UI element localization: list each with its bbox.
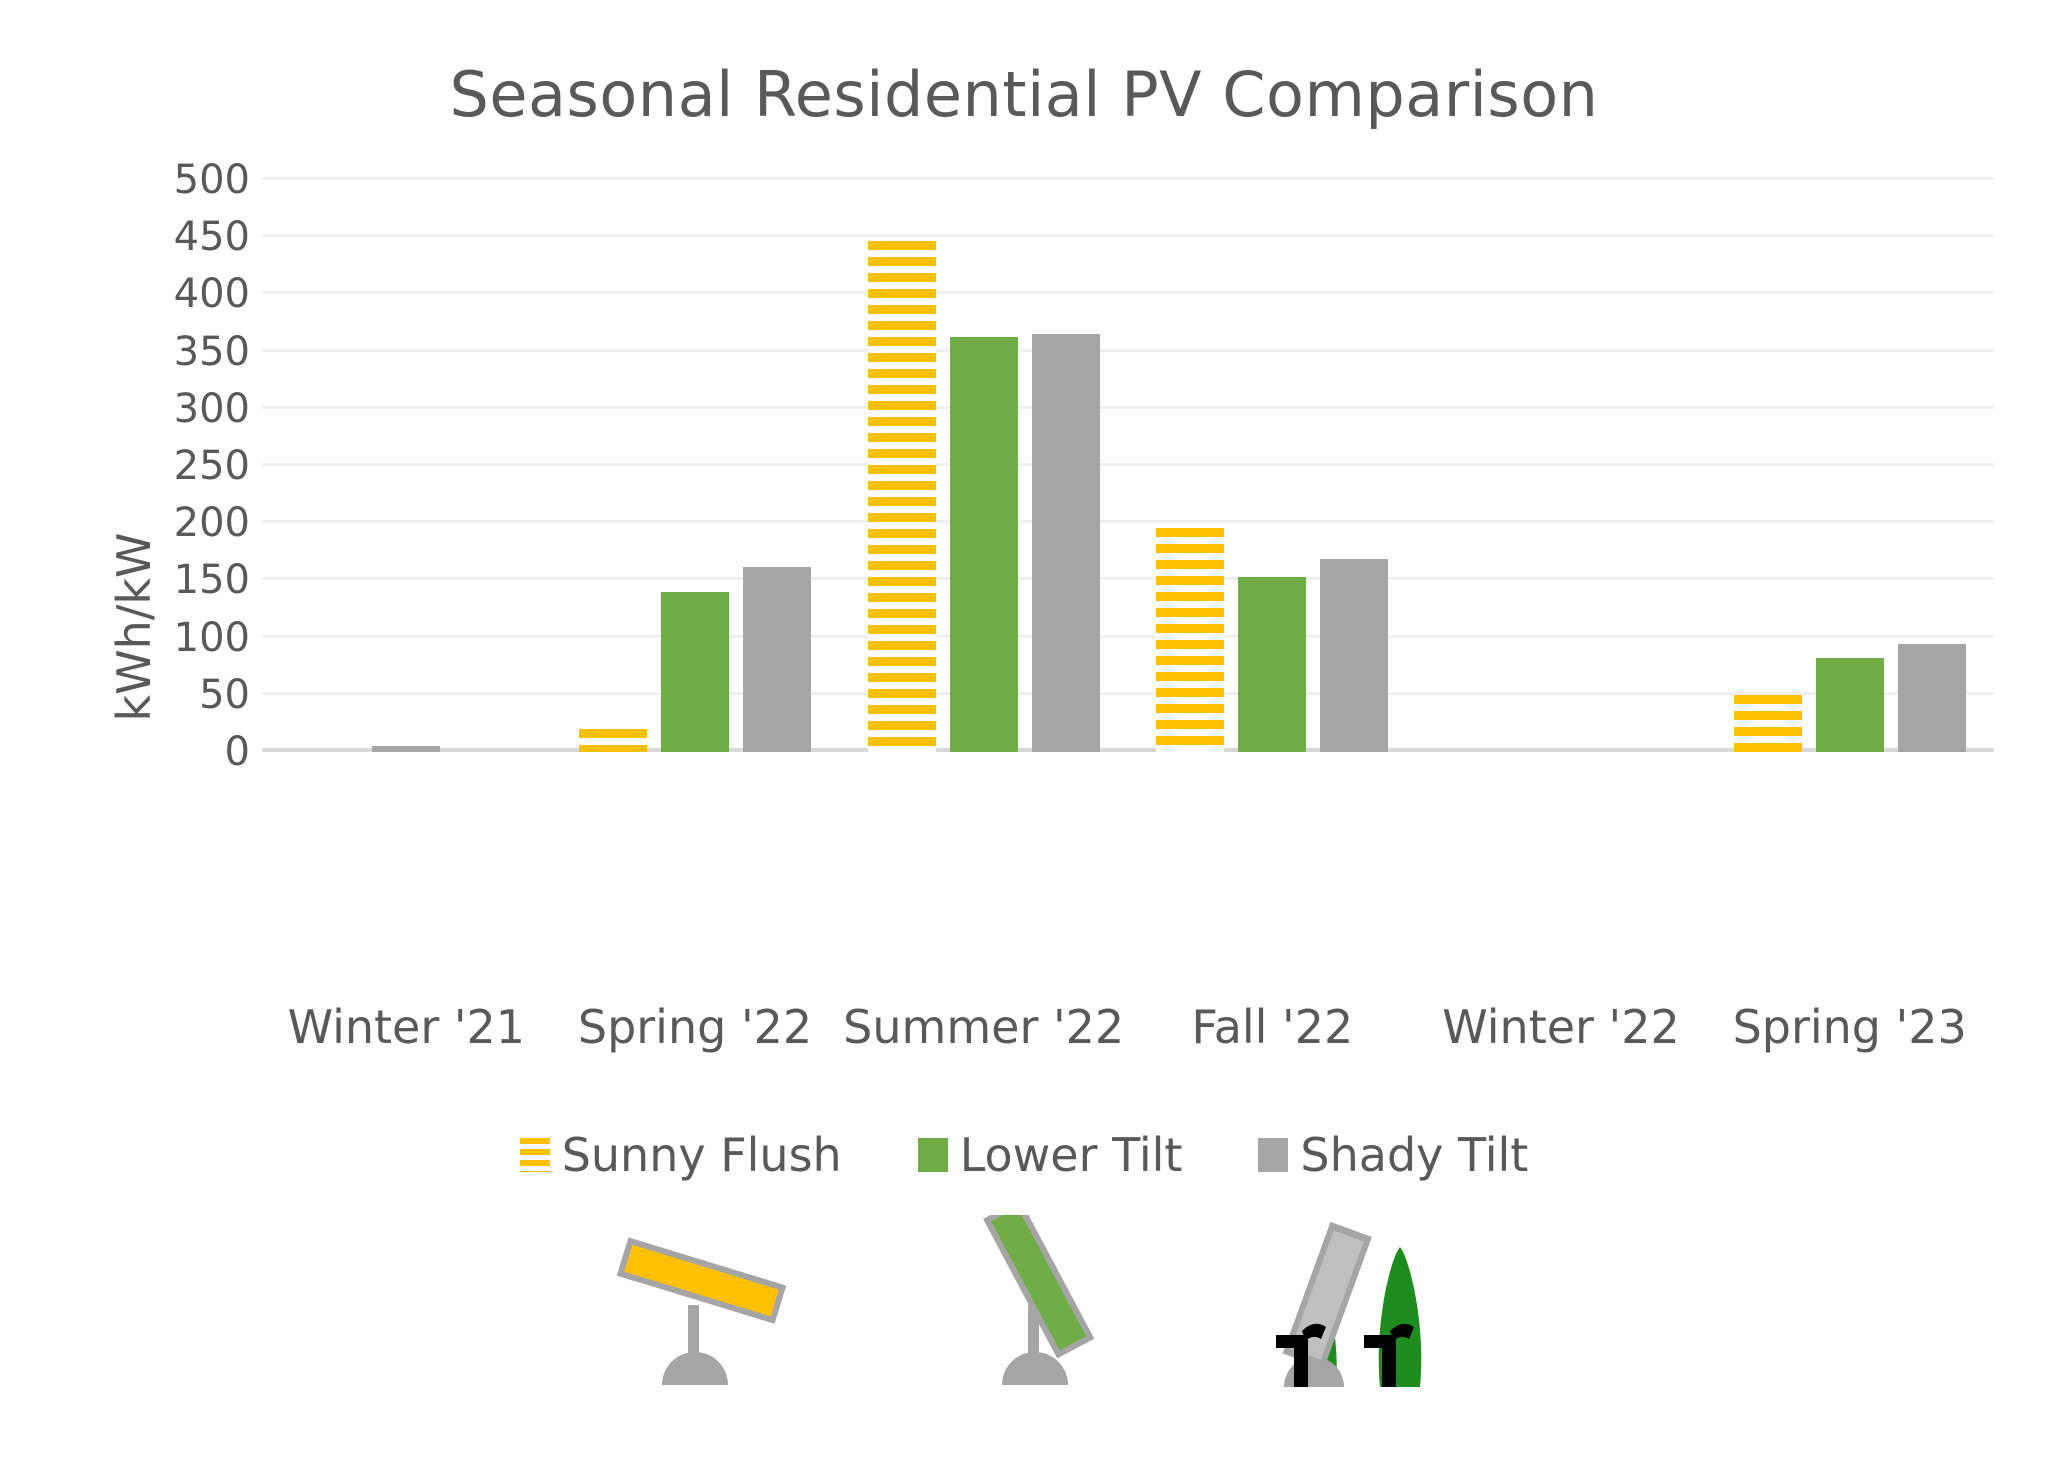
- y-axis-tick-label: 50: [100, 675, 250, 715]
- bar-group: [1705, 180, 1994, 752]
- bar[interactable]: [1156, 528, 1224, 752]
- bar-groups: [262, 180, 1994, 752]
- x-axis-tick-label: Fall '22: [1128, 1000, 1417, 1054]
- bar-group: [839, 180, 1128, 752]
- bar[interactable]: [743, 567, 811, 752]
- x-axis-tick-label: Summer '22: [839, 1000, 1128, 1054]
- bar-group: [551, 180, 840, 752]
- bar-group: [1128, 180, 1417, 752]
- bar-group: [262, 180, 551, 752]
- y-axis-tick-label: 0: [100, 732, 250, 772]
- tilted-solar-panel-icon: [940, 1215, 1160, 1460]
- x-axis-tick-label: Winter '22: [1417, 1000, 1706, 1054]
- bar[interactable]: [1816, 658, 1884, 752]
- bar[interactable]: [372, 746, 440, 752]
- bar[interactable]: [1898, 644, 1966, 752]
- legend-swatch-icon: [1258, 1138, 1288, 1172]
- y-axis-tick-label: 250: [100, 446, 250, 486]
- shaded-solar-panel-with-trees-icon: [1232, 1215, 1462, 1460]
- bar[interactable]: [1734, 695, 1802, 752]
- y-axis-tick-label: 450: [100, 217, 250, 257]
- legend-label: Shady Tilt: [1300, 1128, 1528, 1182]
- y-axis-tick-label: 200: [100, 503, 250, 543]
- illustration-row: [0, 1215, 2048, 1460]
- bar[interactable]: [1238, 577, 1306, 752]
- chart-title: Seasonal Residential PV Comparison: [0, 58, 2048, 131]
- flush-mounted-solar-panel-icon: [600, 1215, 820, 1460]
- bar-group: [1417, 180, 1706, 752]
- y-axis-tick-label: 500: [100, 160, 250, 200]
- bar[interactable]: [950, 337, 1018, 752]
- x-axis-tick-labels: Winter '21Spring '22Summer '22Fall '22Wi…: [262, 1000, 1994, 1054]
- legend-item[interactable]: Lower Tilt: [918, 1128, 1183, 1182]
- y-axis-tick-label: 100: [100, 618, 250, 658]
- legend-swatch-icon: [918, 1138, 948, 1172]
- legend-label: Lower Tilt: [960, 1128, 1183, 1182]
- bar[interactable]: [1032, 334, 1100, 752]
- chart-container: Seasonal Residential PV Comparison kWh/k…: [0, 0, 2048, 1460]
- chart-legend: Sunny FlushLower TiltShady Tilt: [0, 1128, 2048, 1182]
- x-axis-tick-label: Spring '23: [1705, 1000, 1994, 1054]
- bar[interactable]: [579, 729, 647, 752]
- x-axis-tick-label: Spring '22: [551, 1000, 840, 1054]
- bar[interactable]: [868, 241, 936, 752]
- legend-item[interactable]: Sunny Flush: [520, 1128, 842, 1182]
- y-axis-tick-label: 150: [100, 560, 250, 600]
- bar[interactable]: [1320, 559, 1388, 752]
- x-axis-tick-label: Winter '21: [262, 1000, 551, 1054]
- y-axis-tick-label: 350: [100, 332, 250, 372]
- y-axis-tick-label: 300: [100, 389, 250, 429]
- legend-item[interactable]: Shady Tilt: [1258, 1128, 1528, 1182]
- bar[interactable]: [661, 592, 729, 752]
- legend-swatch-icon: [520, 1138, 550, 1172]
- y-axis-tick-labels: 500450400350300250200150100500: [100, 150, 250, 790]
- y-axis-tick-label: 400: [100, 274, 250, 314]
- legend-label: Sunny Flush: [562, 1128, 842, 1182]
